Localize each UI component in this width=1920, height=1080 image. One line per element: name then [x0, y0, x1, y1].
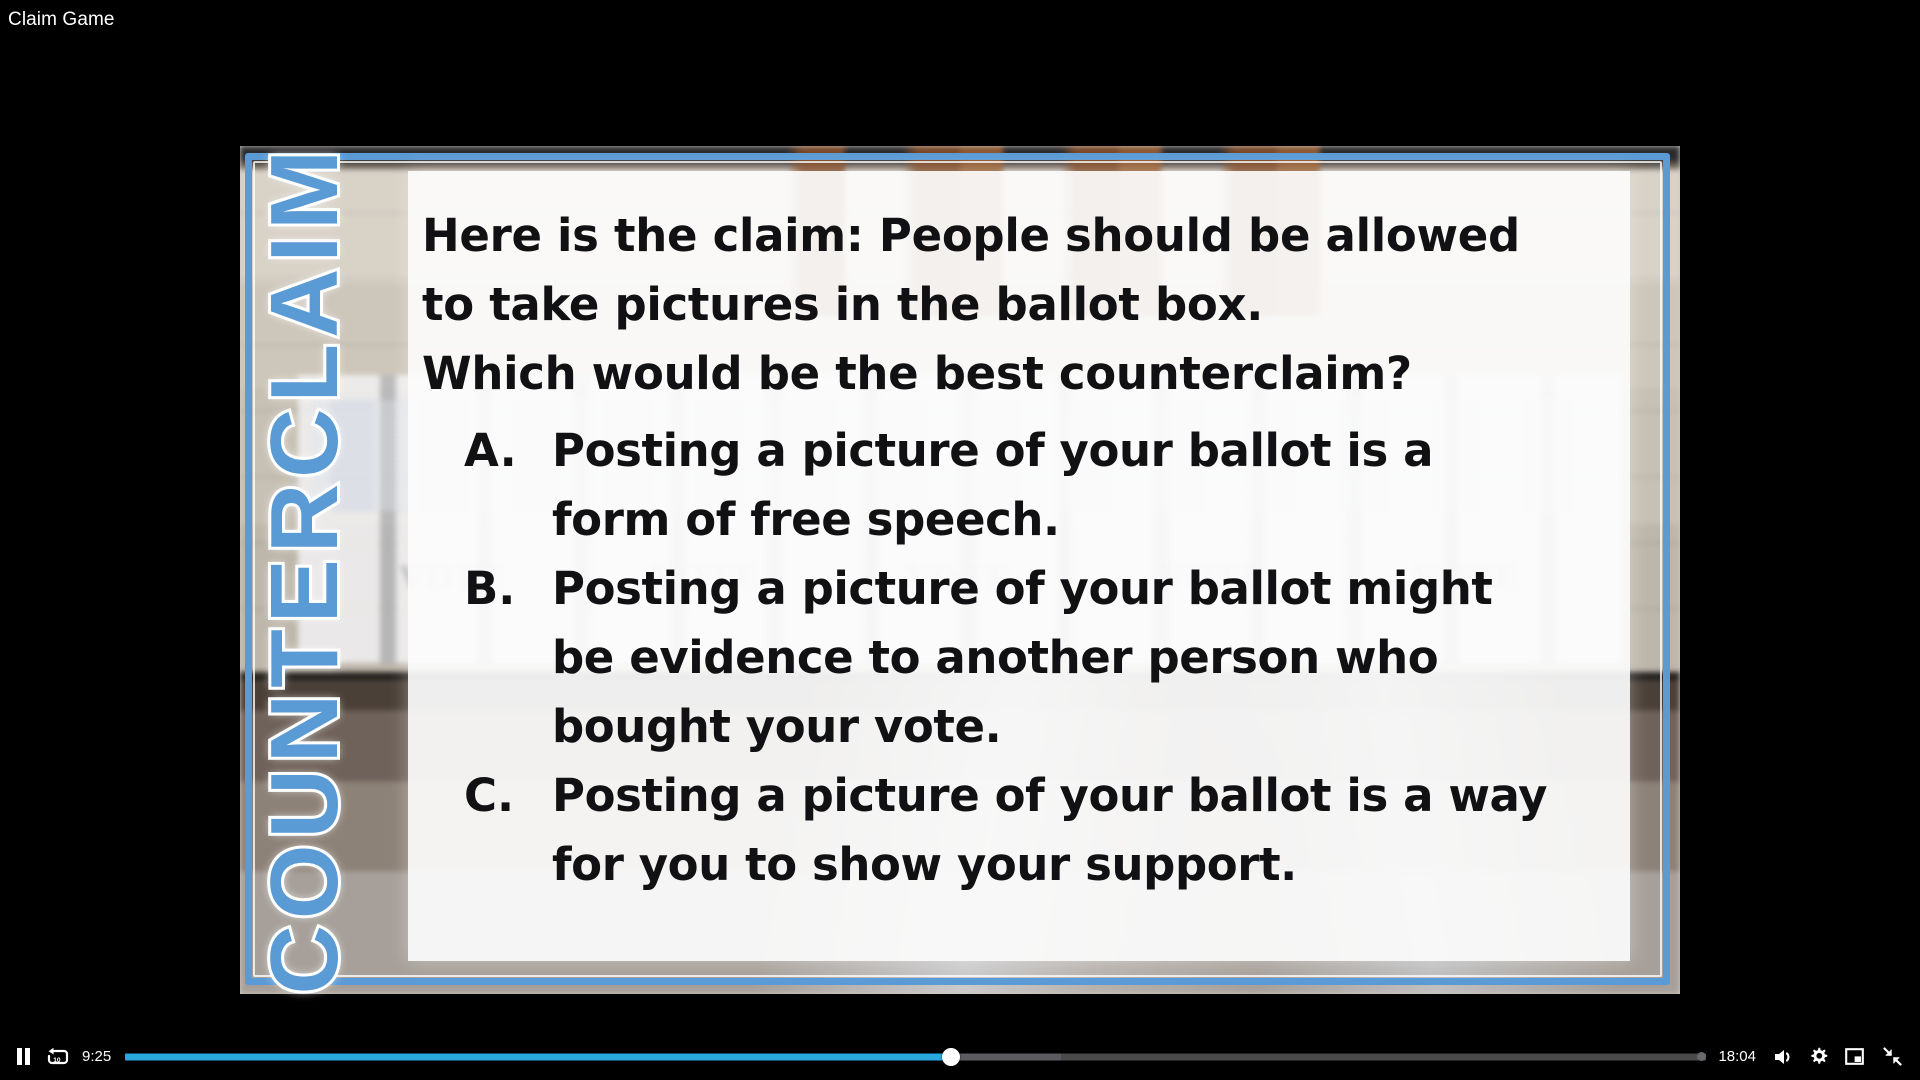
question-panel: Here is the claim: People should be allo… [408, 171, 1630, 961]
answer-option-c: C. Posting a picture of your ballot is a… [464, 761, 1620, 899]
option-text-line: Posting a picture of your ballot is a wa… [552, 761, 1547, 830]
current-time: 9:25 [82, 1048, 111, 1065]
settings-button[interactable] [1800, 1033, 1836, 1080]
option-text-line: for you to show your support. [552, 830, 1547, 899]
page-title: Claim Game [8, 8, 115, 32]
player-control-bar: 10 9:25 18:04 [0, 1033, 1920, 1080]
volume-button[interactable] [1766, 1033, 1800, 1080]
picture-in-picture-button[interactable] [1836, 1033, 1872, 1080]
replay-10-button[interactable]: 10 [40, 1033, 76, 1080]
option-text: Posting a picture of your ballot is a fo… [552, 416, 1433, 554]
video-player-page: Claim Game VOTE VOTE VOTE VOTE [0, 0, 1920, 1080]
progress-endcap [1697, 1052, 1706, 1061]
option-text-line: Posting a picture of your ballot might [552, 554, 1493, 623]
exit-fullscreen-button[interactable] [1872, 1033, 1912, 1080]
option-text-line: be evidence to another person who [552, 623, 1493, 692]
option-letter: A. [464, 416, 552, 554]
question-line: Here is the claim: People should be allo… [422, 201, 1612, 270]
progress-scrubber[interactable] [125, 1033, 1706, 1080]
question-line: Which would be the best counterclaim? [422, 339, 1612, 408]
progress-track[interactable] [125, 1053, 1706, 1060]
total-time: 18:04 [1718, 1048, 1756, 1065]
answer-option-b: B. Posting a picture of your ballot migh… [464, 554, 1620, 761]
option-text-line: Posting a picture of your ballot is a [552, 416, 1433, 485]
pause-icon [16, 1048, 31, 1065]
option-text-line: bought your vote. [552, 692, 1493, 761]
question-prompt: Here is the claim: People should be allo… [422, 201, 1612, 408]
replay-10-icon: 10 [47, 1047, 69, 1066]
option-text: Posting a picture of your ballot is a wa… [552, 761, 1547, 899]
video-stage[interactable]: VOTE VOTE VOTE VOTE VOTE COUNTERCLAIM He… [0, 33, 1920, 1033]
question-line: to take pictures in the ballot box. [422, 270, 1612, 339]
option-text: Posting a picture of your ballot might b… [552, 554, 1493, 761]
exit-fullscreen-icon [1883, 1047, 1902, 1066]
answer-options: A. Posting a picture of your ballot is a… [464, 416, 1620, 899]
option-text-line: form of free speech. [552, 485, 1433, 554]
picture-in-picture-icon [1845, 1048, 1864, 1065]
progress-played [125, 1053, 950, 1060]
option-letter: B. [464, 554, 552, 761]
progress-handle[interactable] [942, 1048, 960, 1066]
svg-text:10: 10 [53, 1057, 61, 1064]
answer-option-a: A. Posting a picture of your ballot is a… [464, 416, 1620, 554]
pause-button[interactable] [6, 1033, 40, 1080]
gear-icon [1809, 1047, 1828, 1066]
option-letter: C. [464, 761, 552, 899]
volume-icon [1773, 1048, 1793, 1066]
